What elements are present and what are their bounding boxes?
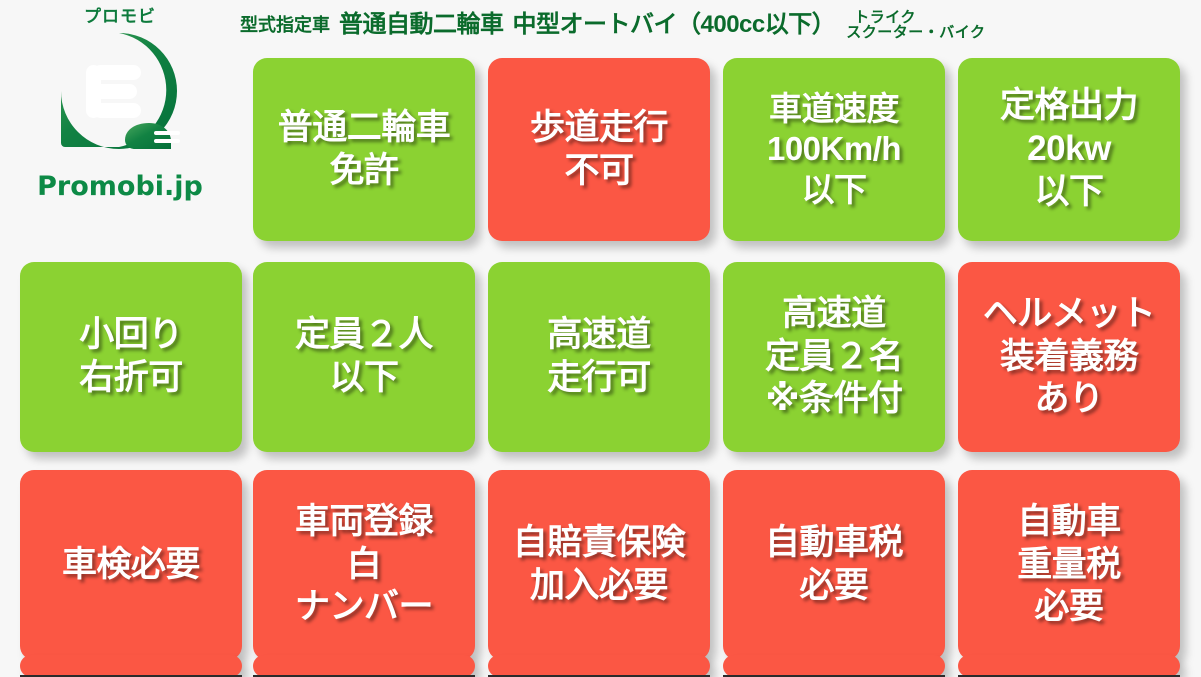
spec-card-label: 車両登録 白 ナンバー [295, 501, 433, 629]
spec-card-partial [253, 655, 475, 677]
spec-chart-page: 普通二輪車 免許歩道走行 不可車道速度 100Km/h 以下定格出力 20kw … [0, 0, 1201, 677]
spec-card-partial [723, 655, 945, 677]
header-segment-midsize-motorbike: 中型オートバイ（400cc以下） [513, 10, 836, 40]
spec-card: 高速道 定員２名 ※条件付 [723, 262, 945, 452]
brand-kana-label: プロモビ [84, 8, 156, 25]
spec-card: 歩道走行 不可 [488, 58, 710, 241]
spec-card: 高速道 走行可 [488, 262, 710, 452]
spec-card-label: 自賠責保険 加入必要 [513, 522, 686, 607]
spec-card-label: 自動車税 必要 [765, 522, 903, 607]
header-segment-type-designated: 型式指定車 [240, 10, 330, 40]
spec-card: 小回り 右折可 [20, 262, 242, 452]
promobi-e-snail-logo-icon [53, 31, 187, 165]
spec-card-label: 定格出力 20kw 以下 [1000, 85, 1138, 213]
spec-card-label: 普通二輪車 免許 [278, 107, 451, 192]
spec-card-label: 車検必要 [62, 544, 200, 587]
header-segment-ordinary-motorcycle: 普通自動二輪車 [339, 10, 504, 40]
header-side-line-1: トライク [846, 10, 985, 25]
spec-card: 普通二輪車 免許 [253, 58, 475, 241]
spec-card-label: 車道速度 100Km/h 以下 [767, 89, 901, 210]
brand-logo-block: プロモビ [0, 0, 240, 250]
spec-card-label: 高速道 走行可 [547, 314, 651, 399]
spec-card: ヘルメット 装着義務 あり [958, 262, 1180, 452]
spec-card: 定員２人 以下 [253, 262, 475, 452]
spec-card-label: ヘルメット 装着義務 あり [983, 293, 1156, 421]
spec-card: 自動車 重量税 必要 [958, 470, 1180, 660]
spec-card: 車検必要 [20, 470, 242, 660]
spec-card-label: 高速道 定員２名 ※条件付 [765, 293, 903, 421]
spec-card-partial [488, 655, 710, 677]
header-side-line-2: スクーター・バイク [846, 25, 985, 40]
spec-card: 自動車税 必要 [723, 470, 945, 660]
brand-wordmark: Promobi.jp [37, 173, 203, 200]
spec-card: 定格出力 20kw 以下 [958, 58, 1180, 241]
spec-card-label: 自動車 重量税 必要 [1017, 501, 1121, 629]
header-title-bar: 型式指定車 普通自動二輪車 中型オートバイ（400cc以下） トライク スクータ… [240, 0, 1201, 52]
spec-card: 車道速度 100Km/h 以下 [723, 58, 945, 241]
spec-card-partial [958, 655, 1180, 677]
spec-card-label: 小回り 右折可 [79, 314, 183, 399]
spec-card-partial [20, 655, 242, 677]
spec-card: 自賠責保険 加入必要 [488, 470, 710, 660]
spec-card-label: 歩道走行 不可 [530, 107, 668, 192]
spec-card: 車両登録 白 ナンバー [253, 470, 475, 660]
spec-card-label: 定員２人 以下 [295, 314, 433, 399]
header-side-categories: トライク スクーター・バイク [846, 10, 985, 40]
